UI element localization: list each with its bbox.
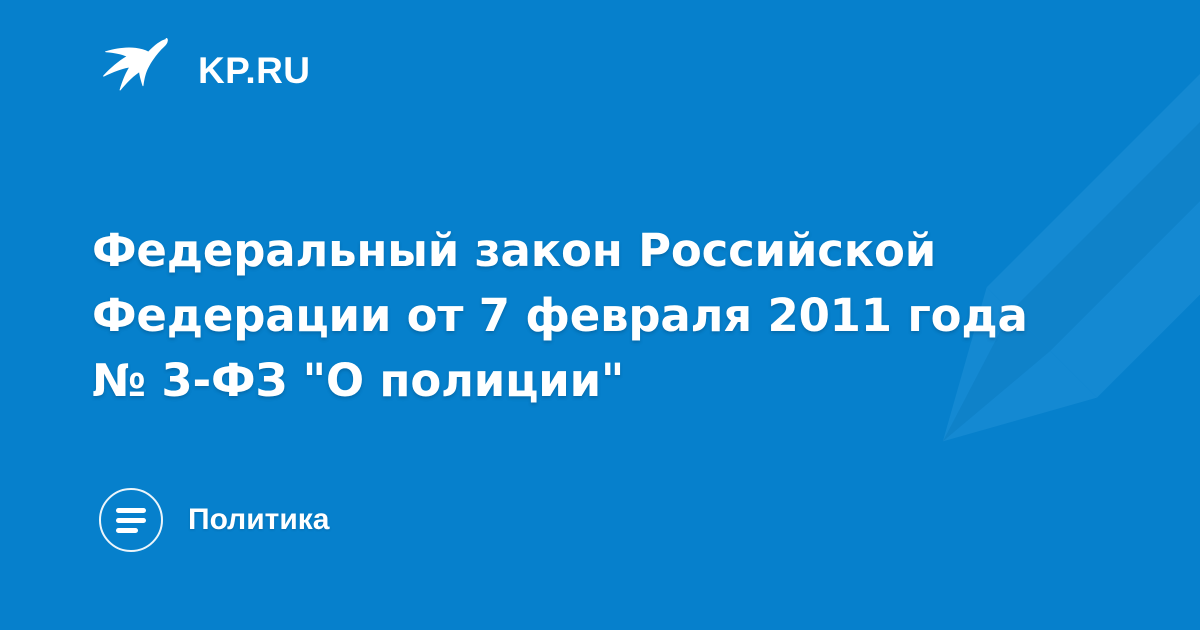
brand-header[interactable]: KP.RU [100,34,310,106]
rubric-label: Политика [188,505,329,535]
social-share-card: KP.RU Федеральный закон Российской Федер… [0,0,1200,630]
page-title: Федеральный закон Российской Федерации о… [92,218,1052,413]
hamburger-line-3 [116,528,138,533]
hamburger-menu-icon[interactable] [99,488,163,552]
rubric-badge[interactable]: Политика [99,488,329,552]
hamburger-line-1 [116,508,146,513]
swallow-bird-icon [100,37,176,103]
hamburger-line-2 [116,518,146,523]
brand-name: KP.RU [198,52,310,89]
